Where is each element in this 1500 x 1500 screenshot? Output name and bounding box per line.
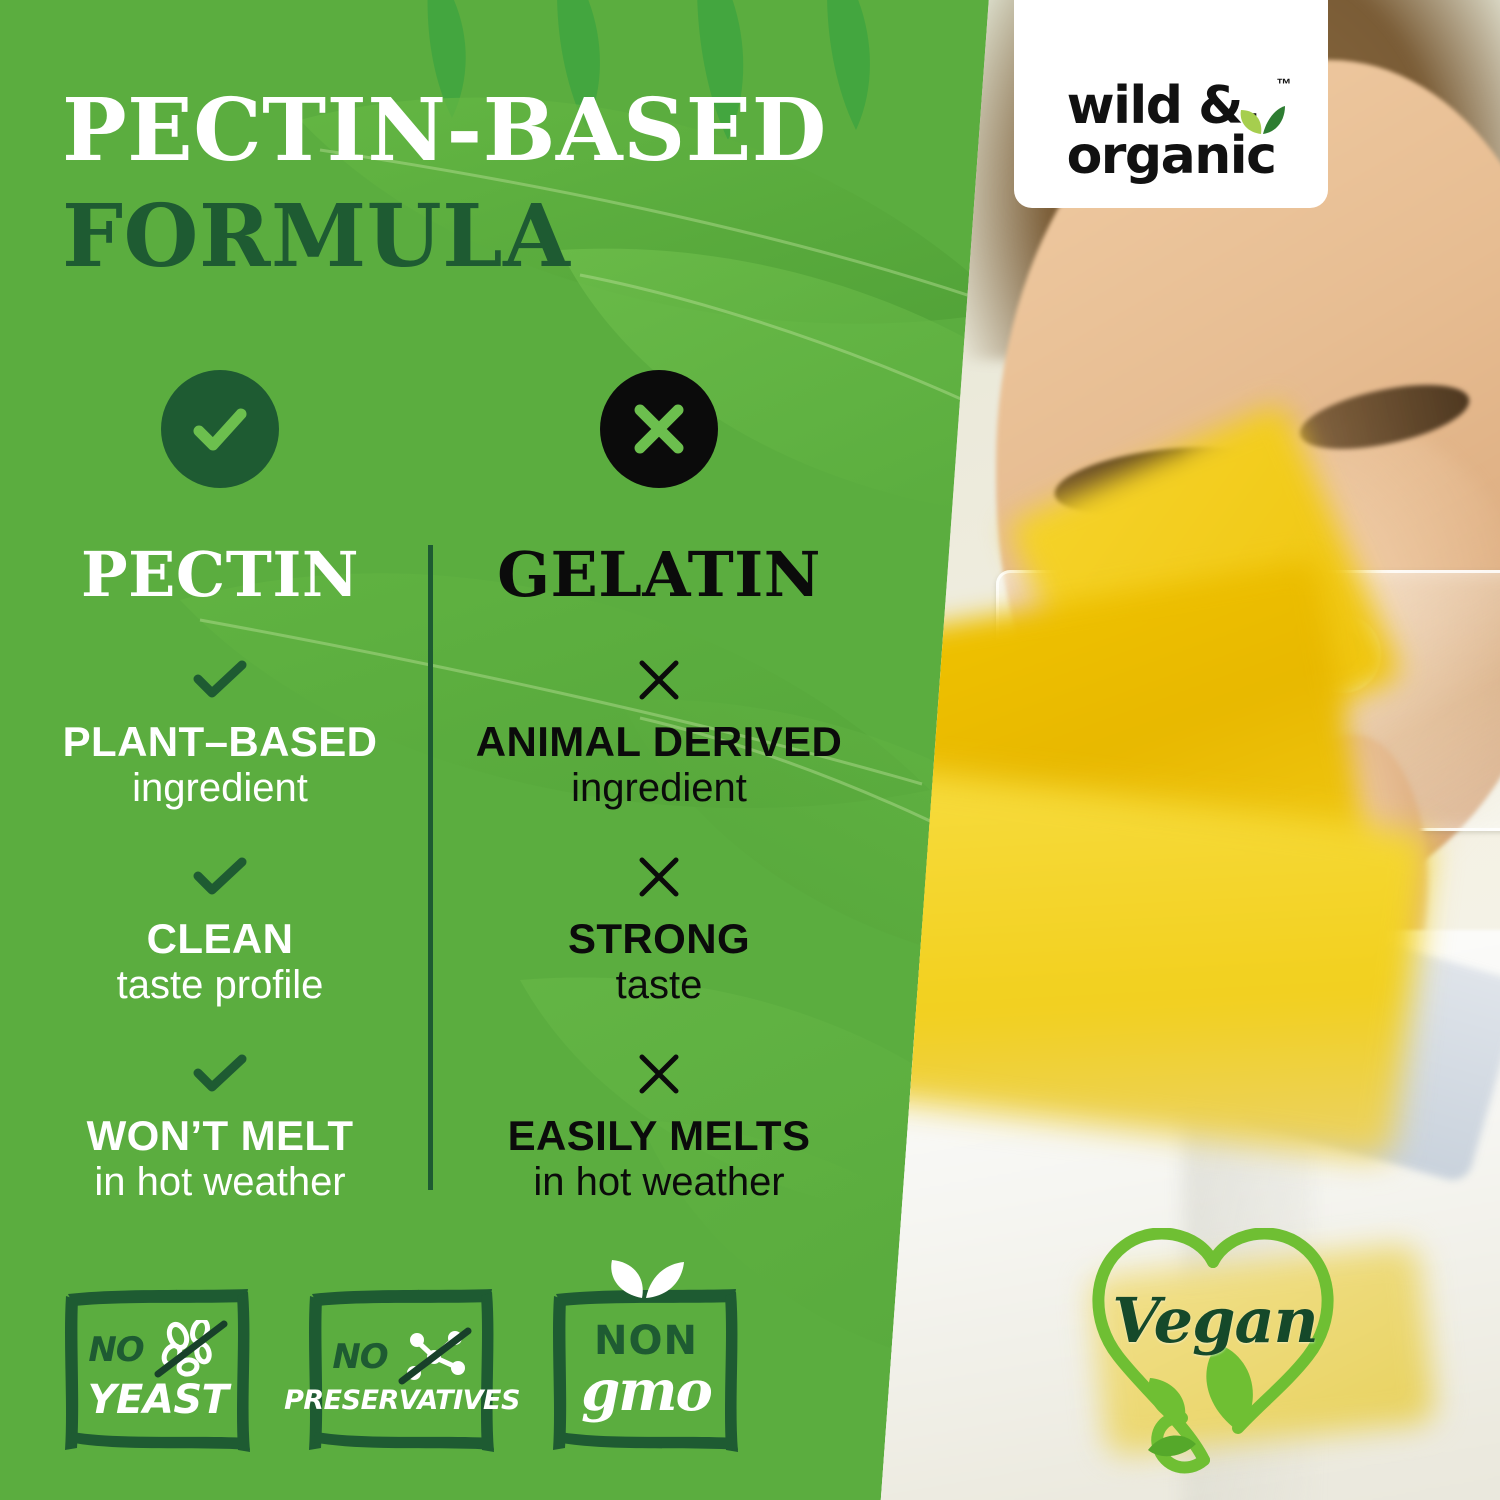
check-icon	[161, 370, 279, 488]
item-secondary-text: in hot weather	[458, 1160, 860, 1205]
column-title-gelatin: GELATIN	[458, 544, 860, 606]
badge-word: gmo	[581, 1363, 711, 1419]
column-divider	[428, 545, 433, 1190]
item-secondary-text: taste	[458, 963, 860, 1008]
headline-line-2: FORMULA	[62, 194, 962, 280]
trademark-symbol: ™	[1276, 76, 1291, 93]
list-item: STRONG taste	[458, 851, 860, 1008]
vegan-label: Vegan	[1100, 1284, 1330, 1357]
item-secondary-text: in hot weather	[10, 1160, 430, 1205]
logo-line-2: organic	[1067, 132, 1276, 182]
badge-prefix: NO	[88, 1330, 143, 1370]
column-gelatin: GELATIN ANIMAL DERIVED ingredient STRONG…	[430, 370, 860, 1245]
cross-icon	[600, 370, 718, 488]
item-primary-text: EASILY MELTS	[458, 1114, 860, 1158]
comparison-section: PECTIN PLANT–BASED ingredient CLEAN tast…	[0, 370, 900, 1245]
item-primary-text: PLANT–BASED	[10, 720, 430, 764]
certification-badges: NO YEAST	[60, 1282, 744, 1458]
check-icon	[10, 1048, 430, 1100]
item-secondary-text: taste profile	[10, 963, 430, 1008]
list-item: EASILY MELTS in hot weather	[458, 1048, 860, 1205]
badge-prefix: NO	[332, 1337, 387, 1377]
badge-prefix: NON	[594, 1321, 698, 1361]
badge-no-yeast: NO YEAST	[60, 1282, 256, 1458]
column-pectin: PECTIN PLANT–BASED ingredient CLEAN tast…	[0, 370, 430, 1245]
heart-vine-icon	[1048, 1228, 1378, 1490]
item-primary-text: STRONG	[458, 917, 860, 961]
item-primary-text: WON’T MELT	[10, 1114, 430, 1158]
badge-no-preservatives: NO PRE	[304, 1282, 500, 1458]
logo-leaf-icon	[1239, 106, 1285, 136]
molecule-crossed-icon	[398, 1327, 472, 1387]
list-item: ANIMAL DERIVED ingredient	[458, 654, 860, 811]
check-icon	[10, 851, 430, 903]
infographic-canvas: PECTIN-BASED FORMULA wild &. organic ™	[0, 0, 1500, 1500]
cross-icon	[458, 1048, 860, 1100]
item-primary-text: CLEAN	[10, 917, 430, 961]
list-item: WON’T MELT in hot weather	[10, 1048, 430, 1205]
badge-word: PRESERVATIVES	[284, 1387, 520, 1414]
item-secondary-text: ingredient	[458, 766, 860, 811]
item-primary-text: ANIMAL DERIVED	[458, 720, 860, 764]
cross-icon	[458, 654, 860, 706]
badge-word: YEAST	[88, 1380, 229, 1420]
cross-icon	[458, 851, 860, 903]
column-title-pectin: PECTIN	[10, 544, 430, 606]
item-secondary-text: ingredient	[10, 766, 430, 811]
list-item: PLANT–BASED ingredient	[10, 654, 430, 811]
badge-non-gmo: NON gmo	[548, 1282, 744, 1458]
yeast-crossed-icon	[154, 1320, 228, 1380]
list-item: CLEAN taste profile	[10, 851, 430, 1008]
vegan-seal: Vegan	[1048, 1228, 1378, 1490]
headline: PECTIN-BASED FORMULA	[62, 88, 962, 280]
brand-logo[interactable]: wild &. organic ™	[1014, 0, 1328, 208]
check-icon	[10, 654, 430, 706]
headline-line-1: PECTIN-BASED	[62, 88, 962, 174]
